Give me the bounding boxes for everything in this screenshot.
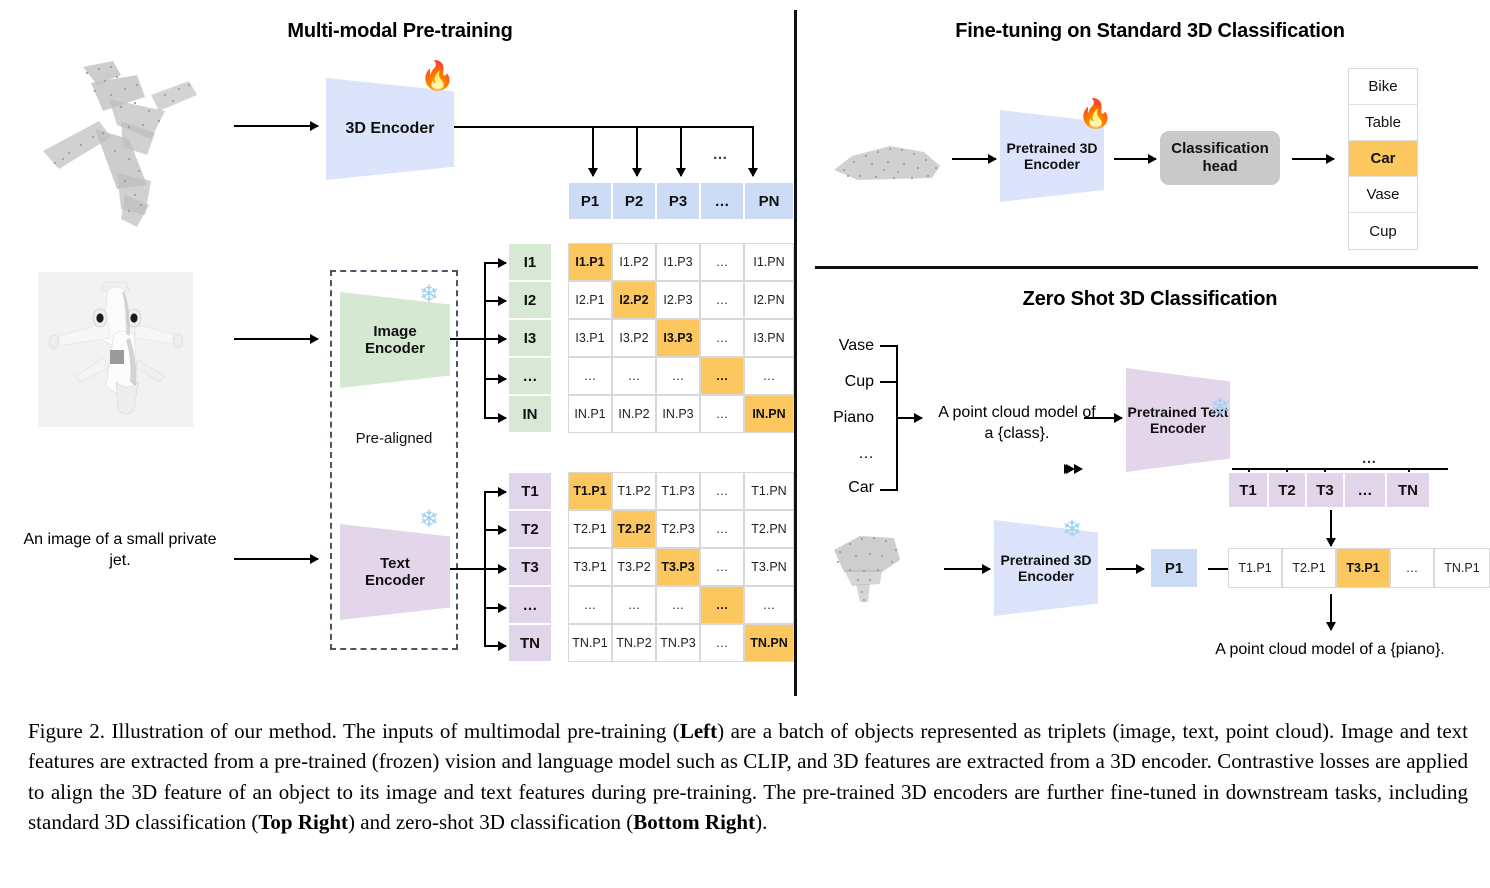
text-matrix-cell-2-2: T3.P3 [656, 548, 700, 586]
classification-head: Classification head [1160, 131, 1280, 185]
text-similarity-matrix: T1.P1T1.P2T1.P3…T1.PNT2.P1T2.P2T2.P3…T2.… [568, 472, 794, 662]
zs-text-encoder-line2: Encoder [1150, 420, 1206, 436]
image-matrix-cell-2-2: I3.P3 [656, 319, 700, 357]
image-matrix-cell-4-3: … [700, 395, 744, 433]
zs-class-vase: Vase [800, 337, 874, 355]
ft-encoder-label-line1: Pretrained 3D [1006, 140, 1097, 156]
class-item-table: Table [1349, 105, 1417, 141]
image-matrix-cell-3-3: … [700, 357, 744, 395]
p-bus-ellipsis: … [700, 146, 740, 163]
image-bus-vertical [484, 262, 486, 418]
encoder-text-label-line1: Text [380, 555, 410, 572]
image-matrix-cell-2-4: I3.PN [744, 319, 794, 357]
token-p1: P1 [568, 182, 612, 220]
prompt-template-line2: a {class}. [985, 425, 1050, 442]
vertical-divider [794, 10, 797, 696]
text-matrix-cell-1-4: T2.PN [744, 510, 794, 548]
horizontal-divider [815, 266, 1478, 269]
image-matrix-cell-3-0: … [568, 357, 612, 395]
image-matrix-cell-1-3: … [700, 281, 744, 319]
text-matrix-cell-4-4: TN.PN [744, 624, 794, 662]
arrow-scores-to-result [1330, 594, 1332, 630]
image-matrix-cell-4-4: IN.PN [744, 395, 794, 433]
class-item-bike: Bike [1349, 69, 1417, 105]
image-matrix-cell-2-1: I3.P2 [612, 319, 656, 357]
zs-token-p1: P1 [1150, 548, 1198, 588]
text-matrix-cell-4-0: TN.P1 [568, 624, 612, 662]
zs-token-t1: T1 [1228, 472, 1268, 508]
text-matrix-cell-1-3: … [700, 510, 744, 548]
class-prediction-list: BikeTableCarVaseCup [1348, 68, 1418, 250]
image-matrix-cell-4-2: IN.P3 [656, 395, 700, 433]
arrow-to-pn [752, 126, 754, 176]
text-matrix-cell-3-4: … [744, 586, 794, 624]
image-matrix-cell-1-1: I2.P2 [612, 281, 656, 319]
text-matrix-cell-1-2: T2.P3 [656, 510, 700, 548]
figure-canvas: Multi-modal Pre-training [0, 0, 1490, 700]
prompt-template-line1: A point cloud model of [938, 404, 1095, 421]
snowflake-icon-text-encoder: ❄ [419, 508, 439, 532]
zs-score-cell-2: T3.P1 [1336, 548, 1390, 588]
image-matrix-cell-1-0: I2.P1 [568, 281, 612, 319]
point-token-row: P1 P2 P3 … PN [568, 182, 794, 220]
arrow-to-p3 [680, 126, 682, 176]
text-matrix-cell-3-0: … [568, 586, 612, 624]
encoder-3d-label: 3D Encoder [346, 120, 435, 138]
zs-token-t3: T3 [1306, 472, 1344, 508]
image-matrix-cell-3-2: … [656, 357, 700, 395]
text-matrix-cell-1-1: T2.P2 [612, 510, 656, 548]
token-p2: P2 [612, 182, 656, 220]
zs-class-cup: Cup [800, 373, 874, 391]
class-bracket-tick-2 [880, 381, 898, 383]
text-matrix-cell-2-1: T3.P2 [612, 548, 656, 586]
flame-icon-finetune: 🔥 [1078, 100, 1113, 128]
figure-caption: Figure 2. Illustration of our method. Th… [28, 716, 1468, 838]
token-t2: T2 [508, 510, 552, 548]
image-matrix-cell-4-1: IN.P2 [612, 395, 656, 433]
text-matrix-cell-2-0: T3.P1 [568, 548, 612, 586]
arrow-to-i1 [484, 262, 506, 264]
token-i2: I2 [508, 281, 552, 319]
zs-score-cell-3: … [1390, 548, 1434, 588]
zs-score-cell-0: T1.P1 [1228, 548, 1282, 588]
zs-score-cell-4: TN.P1 [1434, 548, 1490, 588]
text-matrix-cell-2-4: T3.PN [744, 548, 794, 586]
zs-token-tn: TN [1386, 472, 1430, 508]
text-matrix-cell-3-1: … [612, 586, 656, 624]
arrow-tokens-to-scores [1330, 510, 1332, 546]
arrow-to-i2 [484, 300, 506, 302]
snowflake-icon-3d-encoder-zs: ❄ [1062, 518, 1082, 542]
zs-token-t2: T2 [1268, 472, 1306, 508]
zs-token-t-ellipsis: … [1344, 472, 1386, 508]
image-matrix-cell-2-3: … [700, 319, 744, 357]
pre-aligned-label: Pre-aligned [330, 430, 458, 447]
zs-3d-encoder-line1: Pretrained 3D [1000, 552, 1091, 568]
arrow-to-t2 [484, 529, 506, 531]
arrow-to-in [484, 417, 506, 419]
class-bracket-tick-1 [880, 345, 898, 347]
image-matrix-cell-0-1: I1.P2 [612, 243, 656, 281]
arrow-car-to-encoder [952, 158, 996, 160]
arrow-to-t1 [484, 491, 506, 493]
arrow-to-p1 [592, 126, 594, 176]
flame-icon: 🔥 [420, 62, 455, 90]
arrow-classes-to-prompt [896, 417, 922, 419]
text-matrix-cell-1-0: T2.P1 [568, 510, 612, 548]
arrow-head-to-classes [1292, 158, 1334, 160]
image-matrix-cell-3-4: … [744, 357, 794, 395]
image-similarity-matrix: I1.P1I1.P2I1.P3…I1.PNI2.P1I2.P2I2.P3…I2.… [568, 243, 794, 433]
classification-head-line1: Classification [1171, 140, 1269, 157]
arrow-to-t-ellipsis [484, 607, 506, 609]
zs-score-row: T1.P1T2.P1T3.P1…TN.P1 [1228, 548, 1490, 588]
image-matrix-cell-0-0: I1.P1 [568, 243, 612, 281]
encoder-3d: 3D Encoder [326, 78, 454, 180]
zs-result-text: A point cloud model of a {piano}. [1160, 640, 1490, 661]
image-matrix-cell-3-1: … [612, 357, 656, 395]
token-i-ellipsis: … [508, 357, 552, 395]
image-token-column: I1 I2 I3 … IN [508, 243, 552, 433]
arrow-pointcloud-to-3d-encoder [234, 125, 318, 127]
token-p3: P3 [656, 182, 700, 220]
text-matrix-cell-0-1: T1.P2 [612, 472, 656, 510]
arrow-image-to-encoder [234, 338, 318, 340]
text-matrix-cell-4-2: TN.P3 [656, 624, 700, 662]
class-item-cup: Cup [1349, 213, 1417, 249]
arrow-to-tn [484, 645, 506, 647]
arrow-to-p2 [636, 126, 638, 176]
zs-3d-encoder-line2: Encoder [1018, 568, 1074, 584]
encoder-text-label-line2: Encoder [365, 572, 425, 589]
arrow-prompt-to-text-encoder [1084, 417, 1122, 419]
arrow-to-i-ellipsis [484, 378, 506, 380]
token-i1: I1 [508, 243, 552, 281]
class-item-car: Car [1349, 141, 1417, 177]
token-tn: TN [508, 624, 552, 662]
image-matrix-cell-4-0: IN.P1 [568, 395, 612, 433]
arrow-encoder-to-head [1114, 158, 1156, 160]
encoder-image-label-line2: Encoder [365, 340, 425, 357]
text-matrix-cell-3-3: … [700, 586, 744, 624]
token-p-ellipsis: … [700, 182, 744, 220]
zs-text-bus-horizontal [1232, 468, 1448, 470]
arrow-piano-to-encoder [944, 568, 990, 570]
class-bracket-tick-3 [880, 489, 898, 491]
piano-point-cloud [826, 528, 936, 608]
text-matrix-cell-3-2: … [656, 586, 700, 624]
bottom-right-panel-title: Zero Shot 3D Classification [830, 288, 1470, 311]
image-matrix-cell-2-0: I3.P1 [568, 319, 612, 357]
token-pn: PN [744, 182, 794, 220]
arrow-to-i3 [484, 338, 506, 340]
zs-class-ellipsis: … [800, 445, 874, 463]
prompt-template: A point cloud model of a {class}. [922, 403, 1112, 445]
bus-3d-horizontal [454, 126, 754, 128]
text-matrix-cell-0-3: … [700, 472, 744, 510]
zs-score-cell-1: T2.P1 [1282, 548, 1336, 588]
arrow-text-to-encoder [234, 558, 318, 560]
image-matrix-cell-0-2: I1.P3 [656, 243, 700, 281]
arrow-encoder-to-p1 [1106, 568, 1144, 570]
text-input-caption: An image of a small private jet. [20, 530, 220, 572]
text-matrix-cell-4-3: … [700, 624, 744, 662]
token-t-ellipsis: … [508, 586, 552, 624]
encoder-text: Text Encoder [340, 524, 450, 620]
token-t1: T1 [508, 472, 552, 510]
snowflake-icon-image-encoder: ❄ [419, 283, 439, 307]
image-matrix-cell-1-4: I2.PN [744, 281, 794, 319]
text-matrix-cell-4-1: TN.P2 [612, 624, 656, 662]
text-matrix-cell-0-0: T1.P1 [568, 472, 612, 510]
text-token-column: T1 T2 T3 … TN [508, 472, 552, 662]
zs-class-piano: Piano [800, 409, 874, 427]
text-matrix-cell-0-4: T1.PN [744, 472, 794, 510]
zs-class-car: Car [800, 479, 874, 497]
ft-encoder-label-line2: Encoder [1024, 156, 1080, 172]
car-point-cloud [828, 132, 948, 192]
airplane-render-image [38, 272, 193, 427]
image-matrix-cell-1-2: I2.P3 [656, 281, 700, 319]
classification-head-line2: head [1202, 158, 1237, 175]
zs-bus-ellipsis: … [1346, 450, 1392, 467]
arrow-to-t3 [484, 568, 506, 570]
image-matrix-cell-0-3: … [700, 243, 744, 281]
text-matrix-cell-0-2: T1.P3 [656, 472, 700, 510]
snowflake-icon-text-encoder-zs: ❄ [1210, 396, 1230, 420]
airplane-point-cloud [25, 55, 240, 230]
token-i3: I3 [508, 319, 552, 357]
left-panel-title: Multi-modal Pre-training [120, 20, 680, 43]
token-t3: T3 [508, 548, 552, 586]
class-item-vase: Vase [1349, 177, 1417, 213]
text-matrix-cell-2-3: … [700, 548, 744, 586]
zs-text-token-row: T1 T2 T3 … TN [1228, 472, 1430, 508]
top-right-panel-title: Fine-tuning on Standard 3D Classificatio… [830, 20, 1470, 43]
token-in: IN [508, 395, 552, 433]
image-matrix-cell-0-4: I1.PN [744, 243, 794, 281]
encoder-image-label-line1: Image [373, 323, 416, 340]
pretrained-3d-encoder-zeroshot: Pretrained 3D Encoder [994, 520, 1098, 616]
